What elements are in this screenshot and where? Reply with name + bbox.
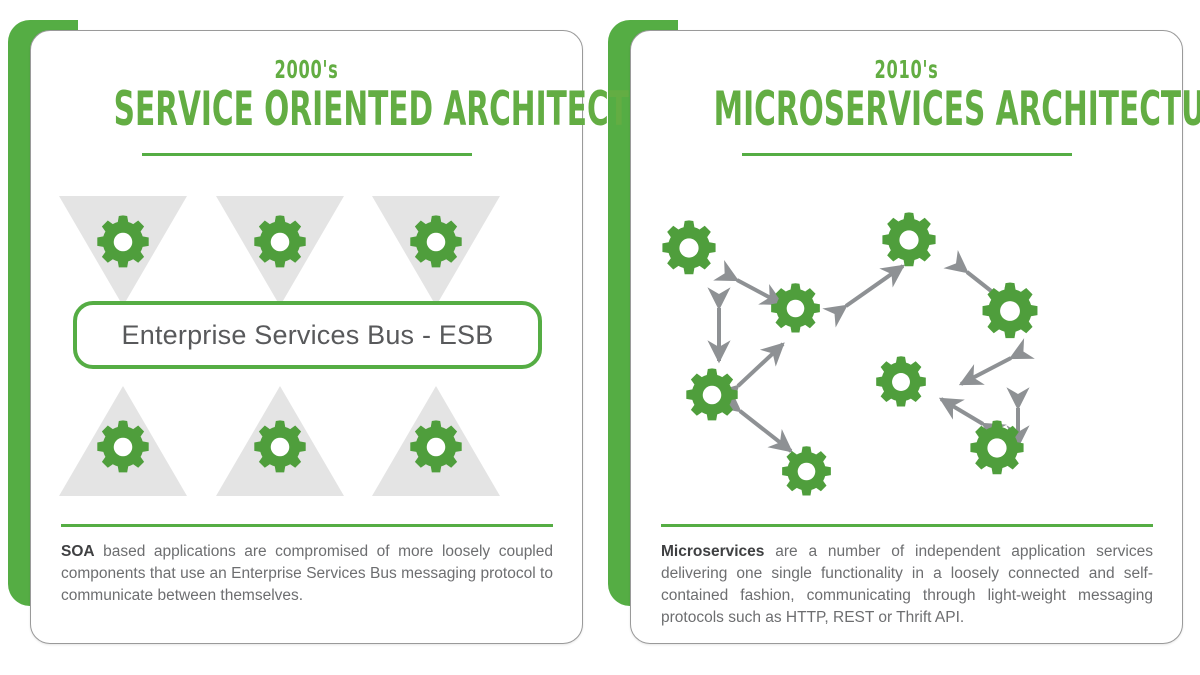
gear-icon-bottom-2 (251, 418, 309, 476)
card-microservices: 2010's MICROSERVICES ARCHITECTURE (630, 30, 1183, 644)
gear-icon-node-2 (771, 283, 820, 332)
gear-icon-node-3 (686, 368, 737, 420)
description-divider-soa (61, 524, 553, 527)
description-divider-microservices (661, 524, 1153, 527)
card-soa: 2000's SERVICE ORIENTED ARCHITECTURE (30, 30, 583, 644)
description-text-microservices: Microservices are a number of independen… (661, 541, 1153, 629)
gear-icon-node-4 (782, 446, 831, 495)
description-text-soa: SOA based applications are compromised o… (61, 541, 553, 607)
double-arrow-icon-bridge (846, 266, 903, 306)
gear-icon-top-1 (94, 213, 152, 271)
panel-soa: 2000's SERVICE ORIENTED ARCHITECTURE (0, 0, 600, 675)
description-block-microservices: Microservices are a number of independen… (661, 524, 1153, 629)
gear-icon-top-2 (251, 213, 309, 271)
double-arrow-icon-l4 (740, 411, 791, 451)
enterprise-service-bus-box: Enterprise Services Bus - ESB (73, 301, 542, 369)
diagram-microservices (631, 196, 1184, 501)
card-header-microservices: 2010's MICROSERVICES ARCHITECTURE (631, 57, 1182, 156)
gear-icon-bottom-1 (94, 418, 152, 476)
gear-icon-node-1 (662, 220, 715, 274)
description-block-soa: SOA based applications are compromised o… (61, 524, 553, 607)
gear-icon-top-3 (407, 213, 465, 271)
gear-icon-node-8 (970, 420, 1023, 474)
era-label-microservices: 2010's (708, 57, 1105, 83)
gear-icon-bottom-3 (407, 418, 465, 476)
description-rest-soa: based applications are compromised of mo… (61, 543, 553, 604)
gear-icon-node-7 (876, 356, 926, 406)
header-divider-microservices (742, 153, 1072, 156)
header-divider-soa (142, 153, 472, 156)
infographic-canvas: 2000's SERVICE ORIENTED ARCHITECTURE (0, 0, 1200, 675)
card-header-soa: 2000's SERVICE ORIENTED ARCHITECTURE (31, 57, 582, 156)
panel-microservices: 2010's MICROSERVICES ARCHITECTURE (600, 0, 1200, 675)
description-lead-microservices: Microservices (661, 543, 764, 560)
double-arrow-icon-l3 (738, 344, 783, 386)
double-arrow-icon-r2 (961, 358, 1011, 384)
double-arrow-icon-l1 (737, 280, 782, 304)
era-label-soa: 2000's (108, 57, 505, 83)
esb-label: Enterprise Services Bus - ESB (122, 320, 494, 351)
page-title-microservices: MICROSERVICES ARCHITECTURE (714, 85, 1100, 134)
double-arrow-icon-r4 (941, 399, 983, 424)
diagram-soa: Enterprise Services Bus - ESB (31, 196, 584, 501)
page-title-soa: SERVICE ORIENTED ARCHITECTURE (114, 85, 500, 134)
description-lead-soa: SOA (61, 543, 95, 560)
gear-icon-node-5 (882, 212, 935, 266)
